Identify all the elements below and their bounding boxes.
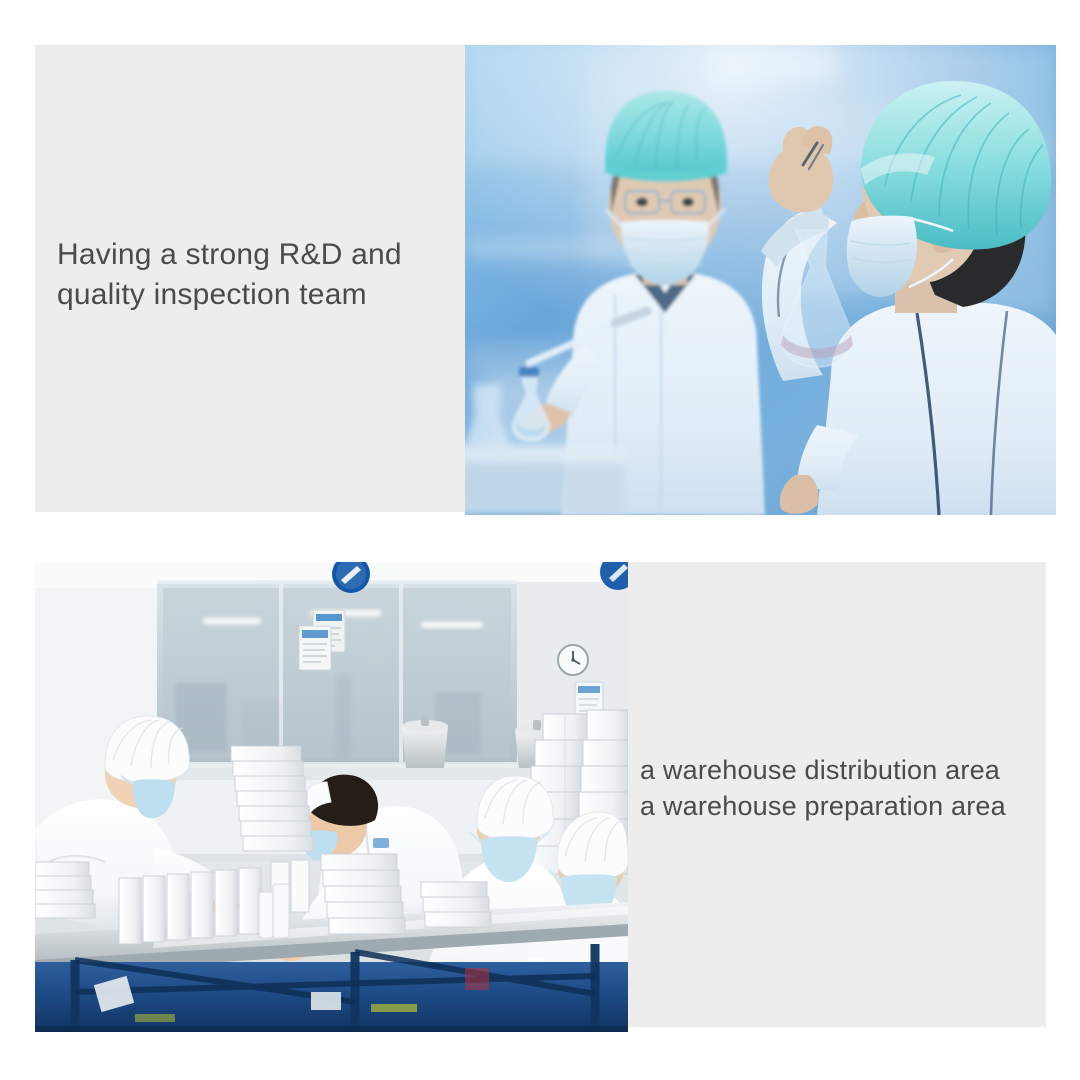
caption-panel-rnd: Having a strong R&D and quality inspecti…: [35, 45, 465, 512]
carton-stack-right: [421, 882, 491, 927]
section-rnd-quality: Having a strong R&D and quality inspecti…: [35, 45, 1056, 515]
wall-clock: [558, 645, 588, 675]
lab-scene-illustration: [465, 45, 1056, 515]
notice-board-2: [299, 626, 331, 670]
lab-quality-inspection-photo: [465, 45, 1056, 515]
carton-pile-left: [35, 862, 95, 918]
carton-stack-tall-left: [231, 746, 313, 851]
warehouse-packing-photo: [35, 562, 628, 1032]
caption-text-warehouse: a warehouse distribution area a warehous…: [640, 752, 1050, 824]
bottles-on-table: [259, 884, 289, 938]
caption-text-rnd: Having a strong R&D and quality inspecti…: [57, 235, 457, 314]
section-warehouse: a warehouse distribution area a warehous…: [35, 562, 1046, 1032]
carton-stack-center: [321, 854, 405, 934]
caption-panel-warehouse: a warehouse distribution area a warehous…: [628, 562, 1046, 1027]
warehouse-scene-illustration: [35, 562, 628, 1032]
poster-canvas: Having a strong R&D and quality inspecti…: [0, 0, 1080, 1080]
